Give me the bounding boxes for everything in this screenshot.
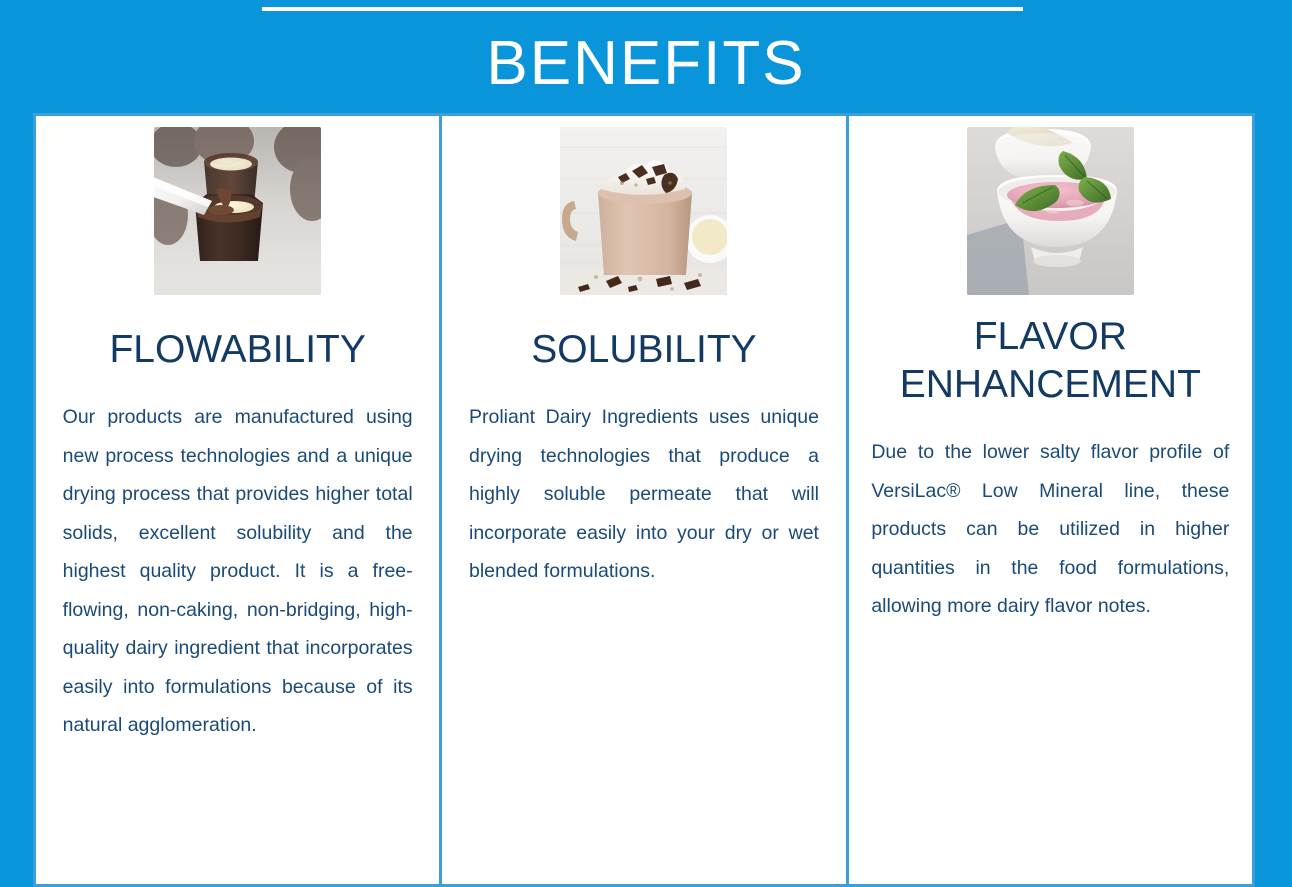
card-body-text: Due to the lower salty flavor profile of…: [871, 433, 1229, 626]
chocolate-cups-image-graphic: [154, 127, 321, 295]
page-title: BENEFITS: [0, 28, 1292, 100]
benefits-card-group: FLOWABILITY Our products are manufacture…: [33, 113, 1255, 887]
card-title: SOLUBILITY: [525, 326, 762, 374]
card-title: FLAVOR ENHANCEMENT: [894, 313, 1207, 409]
benefit-card-flavor-enhancement: FLAVOR ENHANCEMENT Due to the lower salt…: [849, 116, 1252, 884]
strawberry-yogurt-image-graphic: [967, 127, 1134, 295]
benefit-card-flowability: FLOWABILITY Our products are manufacture…: [36, 116, 439, 884]
hot-chocolate-image-graphic: [560, 127, 727, 295]
header-rule-icon: [262, 7, 1023, 11]
strawberry-yogurt-bowl-photo: [967, 127, 1134, 295]
card-body-text: Proliant Dairy Ingredients uses unique d…: [469, 398, 819, 591]
card-title: FLOWABILITY: [103, 326, 371, 374]
hot-chocolate-mug-photo: [560, 127, 727, 295]
benefit-card-solubility: SOLUBILITY Proliant Dairy Ingredients us…: [442, 116, 845, 884]
chocolate-cups-being-filled-photo: [154, 127, 321, 295]
benefits-section: BENEFITS: [0, 0, 1292, 887]
card-body-text: Our products are manufactured using new …: [63, 398, 413, 745]
